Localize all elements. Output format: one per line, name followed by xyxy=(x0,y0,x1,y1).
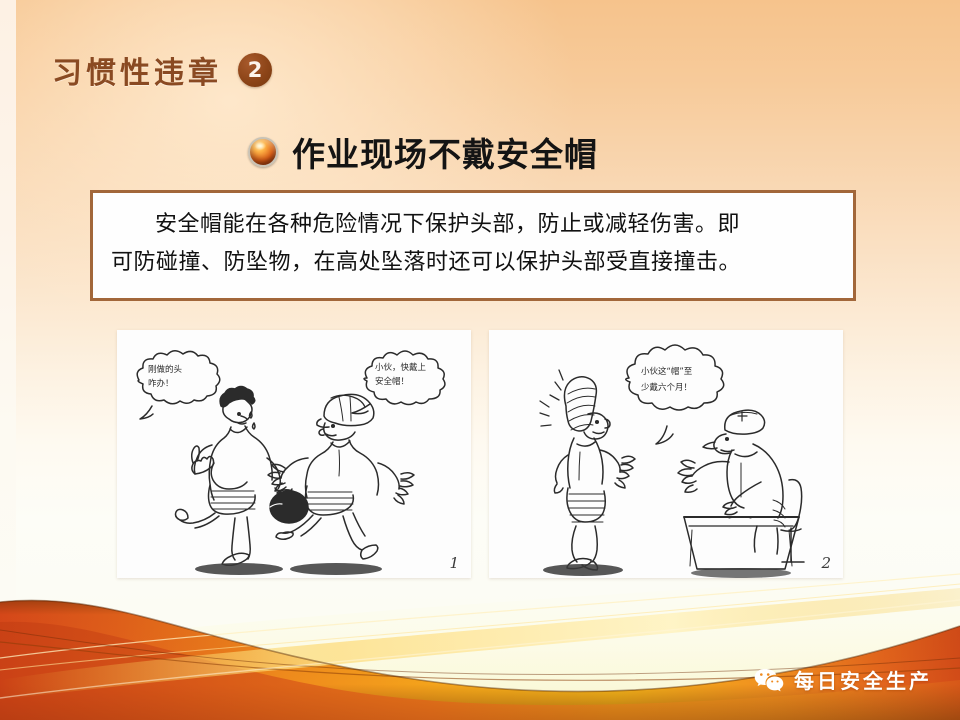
slide-subtitle: 作业现场不戴安全帽 xyxy=(248,128,598,176)
sphere-bullet-icon xyxy=(248,137,278,167)
subtitle-label: 作业现场不戴安全帽 xyxy=(292,128,598,176)
wechat-icon xyxy=(754,667,784,693)
slide-header: 习惯性违章 2 xyxy=(52,48,272,92)
svg-text:小伙这“帽”至: 小伙这“帽”至 xyxy=(641,366,693,377)
watermark: 每日安全生产 xyxy=(754,665,932,694)
header-number-badge: 2 xyxy=(238,53,272,87)
svg-text:小伙，快戴上: 小伙，快戴上 xyxy=(375,362,427,373)
svg-text:少戴六个月！: 少戴六个月！ xyxy=(641,382,692,393)
watermark-label: 每日安全生产 xyxy=(794,665,932,694)
page-title: 习惯性违章 xyxy=(52,48,222,92)
body-text-box: 安全帽能在各种危险情况下保护头部，防止或减轻伤害。即 可防碰撞、防坠物，在高处坠… xyxy=(90,190,856,301)
body-text-line-2: 可防碰撞、防坠物，在高处坠落时还可以保护头部受直接撞击。 xyxy=(111,244,835,282)
svg-text:刚做的头: 刚做的头 xyxy=(148,364,183,375)
svg-text:安全帽！: 安全帽！ xyxy=(375,376,409,387)
body-text-line-1: 安全帽能在各种危险情况下保护头部，防止或减轻伤害。即 xyxy=(111,206,835,244)
svg-text:咋办！: 咋办！ xyxy=(148,378,174,389)
slide-canvas: 习惯性违章 2 作业现场不戴安全帽 安全帽能在各种危险情况下保护头部，防止或减轻… xyxy=(0,0,960,720)
